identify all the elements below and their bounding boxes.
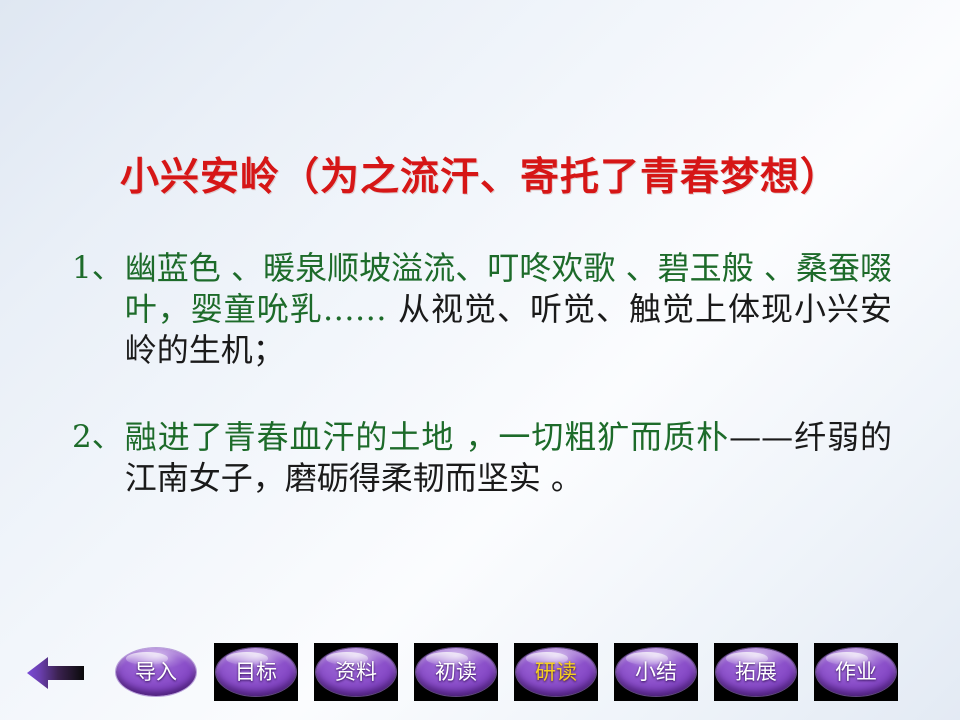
nav-button-0[interactable]: 导入 <box>114 643 198 701</box>
nav-button-oval: 目标 <box>216 648 296 696</box>
nav-button-7[interactable]: 作业 <box>814 643 898 701</box>
nav-button-label: 资料 <box>335 662 377 683</box>
nav-button-oval: 初读 <box>416 648 496 696</box>
text-segment-highlight: 融进了青春血汗的土地 ，一切粗犷而质朴 <box>125 418 729 456</box>
list-item: 1、 幽蓝色 、暖泉顺坡溢流、叮咚欢歌 、碧玉般 、桑蚕啜叶，婴童吮乳…… 从视… <box>72 248 892 371</box>
list-item-marker: 2、 <box>72 417 125 458</box>
nav-button-1[interactable]: 目标 <box>214 643 298 701</box>
nav-button-label: 研读 <box>535 662 577 683</box>
list-item: 2、 融进了青春血汗的土地 ，一切粗犷而质朴——纤弱的江南女子，磨砺得柔韧而坚实… <box>72 417 892 499</box>
nav-button-6[interactable]: 拓展 <box>714 643 798 701</box>
nav-button-label: 拓展 <box>735 662 777 683</box>
nav-button-4-active[interactable]: 研读 <box>514 643 598 701</box>
slide-title: 小兴安岭（为之流汗、寄托了青春梦想） <box>0 146 960 202</box>
presentation-slide: 小兴安岭（为之流汗、寄托了青春梦想） 1、 幽蓝色 、暖泉顺坡溢流、叮咚欢歌 、… <box>0 0 960 720</box>
nav-button-3[interactable]: 初读 <box>414 643 498 701</box>
nav-button-oval: 资料 <box>316 648 396 696</box>
nav-button-oval: 导入 <box>116 648 196 696</box>
nav-button-2[interactable]: 资料 <box>314 643 398 701</box>
slide-body: 1、 幽蓝色 、暖泉顺坡溢流、叮咚欢歌 、碧玉般 、桑蚕啜叶，婴童吮乳…… 从视… <box>72 248 892 499</box>
nav-button-label: 小结 <box>635 662 677 683</box>
nav-button-oval: 小结 <box>616 648 696 696</box>
left-arrow-icon <box>26 653 86 693</box>
nav-button-label: 初读 <box>435 662 477 683</box>
nav-button-oval: 拓展 <box>716 648 796 696</box>
list-item-text: 融进了青春血汗的土地 ，一切粗犷而质朴——纤弱的江南女子，磨砺得柔韧而坚实 。 <box>125 417 892 499</box>
nav-button-label: 目标 <box>235 662 277 683</box>
nav-button-oval: 研读 <box>516 648 596 696</box>
nav-button-oval: 作业 <box>816 648 896 696</box>
list-item-text: 幽蓝色 、暖泉顺坡溢流、叮咚欢歌 、碧玉般 、桑蚕啜叶，婴童吮乳…… 从视觉、听… <box>125 248 892 371</box>
nav-button-5[interactable]: 小结 <box>614 643 698 701</box>
nav-button-label: 导入 <box>135 662 177 683</box>
back-arrow-button[interactable] <box>26 653 86 693</box>
list-item-marker: 1、 <box>72 248 125 289</box>
nav-button-label: 作业 <box>835 662 877 683</box>
slide-navigation-bar: 导入 目标 资料 初读 研读 小结 <box>0 643 960 703</box>
